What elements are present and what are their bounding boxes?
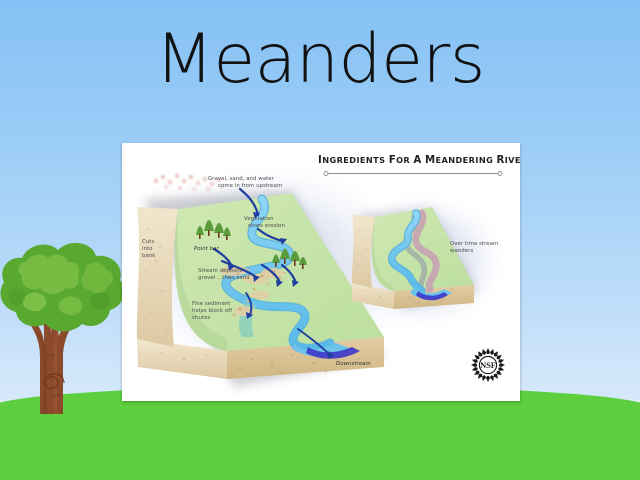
- label-fine-line1: Fine sediment: [192, 301, 230, 307]
- nsf-logo: NSF: [470, 347, 506, 383]
- diagram-heading: INGREDIENTS FOR A MEANDERING RIVER: [318, 155, 508, 166]
- label-cutbank-line1: Cuts: [142, 239, 154, 245]
- label-cut-bank: Cuts into bank: [142, 239, 172, 260]
- label-overtime-line1: Over time stream: [450, 241, 498, 247]
- label-over-time: Over time stream wanders: [450, 241, 512, 255]
- diagram-heading-text: INGREDIENTS FOR A MEANDERING RIVER: [318, 155, 520, 165]
- diagram-illustration: INGREDIENTS FOR A MEANDERING RIVER Grave…: [122, 143, 520, 401]
- label-deposits-line2: gravel ...then sand: [198, 275, 250, 281]
- label-fine-sediment: Fine sediment helps block off chutes: [192, 301, 266, 322]
- cartoon-tree: [0, 238, 128, 414]
- label-stream-deposits: Stream deposits gravel ...then sand: [198, 268, 284, 282]
- label-source-sediment: Gravel, sand, and water come in from ups…: [208, 176, 312, 190]
- label-source-line1: Gravel, sand, and water: [208, 176, 274, 182]
- label-fine-line2: helps block off: [192, 308, 232, 314]
- label-vegetation-line2: slows erosion: [248, 223, 285, 229]
- label-vegetation: Vegetation slows erosion: [244, 216, 304, 230]
- nsf-logo-text: NSF: [480, 361, 496, 370]
- label-source-line2: come in from upstream: [218, 183, 282, 189]
- label-cutbank-line3: bank: [142, 253, 155, 259]
- slide-canvas: Meanders: [0, 0, 640, 480]
- heading-rule: [323, 170, 503, 177]
- label-overtime-line2: wanders: [450, 248, 473, 254]
- label-point-bar: Point bar: [194, 246, 219, 253]
- label-downstream: Downstream: [336, 361, 371, 368]
- tree-foliage: [0, 243, 124, 332]
- label-deposits-line1: Stream deposits: [198, 268, 243, 274]
- diagram-card[interactable]: INGREDIENTS FOR A MEANDERING RIVER Grave…: [122, 143, 520, 401]
- page-title: Meanders: [0, 26, 640, 94]
- label-fine-line3: chutes: [192, 315, 210, 321]
- label-cutbank-line2: into: [142, 246, 153, 252]
- label-vegetation-line1: Vegetation: [244, 216, 274, 222]
